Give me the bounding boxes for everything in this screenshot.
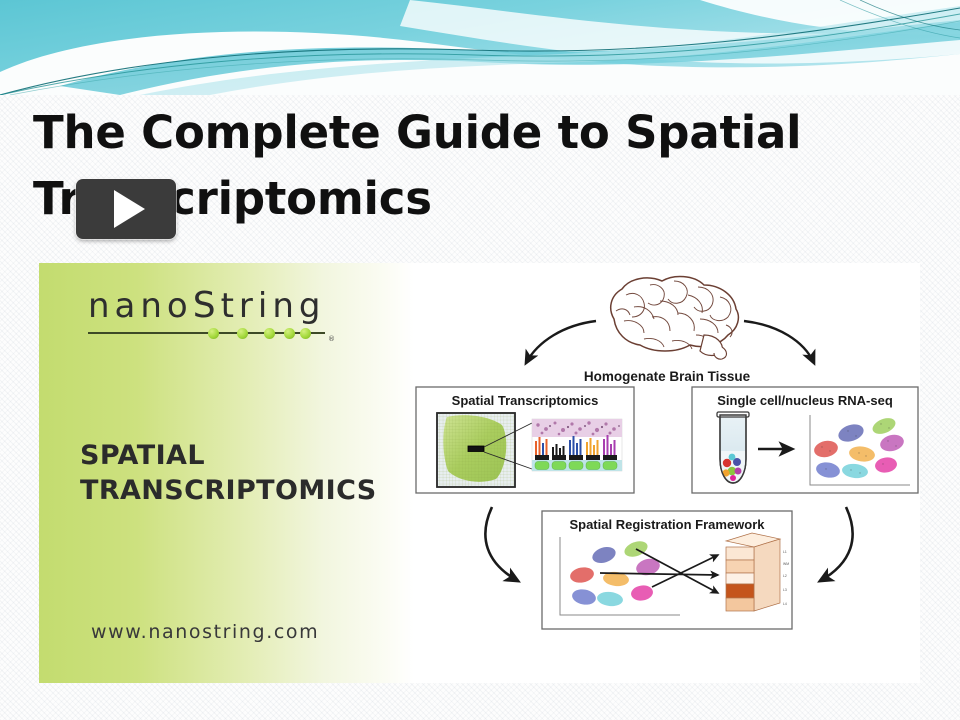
brand-headline-line-1: SPATIAL	[80, 438, 377, 473]
logo-text-tring: tring	[221, 286, 326, 326]
diagram-top-label: Homogenate Brain Tissue	[584, 369, 751, 384]
box-label-spatial-transcriptomics: Spatial Transcriptomics	[452, 393, 599, 408]
slide-content-image: nanoString ® SPATIAL TRANSCRIPTOMICS www…	[39, 263, 920, 683]
box-label-single-cell-rna-seq: Single cell/nucleus RNA-seq	[717, 393, 893, 408]
brand-headline-line-2: TRANSCRIPTOMICS	[80, 473, 377, 508]
logo-text-s: S	[193, 285, 221, 326]
box-spatial-registration-framework: Spatial Registration Framework	[542, 511, 792, 629]
nanostring-brand-panel: nanoString ® SPATIAL TRANSCRIPTOMICS www…	[39, 263, 414, 683]
box-label-spatial-registration-framework: Spatial Registration Framework	[569, 517, 765, 532]
play-button[interactable]	[76, 179, 176, 239]
spot-barcode-graphic	[532, 419, 622, 471]
logo-text-nano: nano	[88, 286, 193, 326]
tissue-slide-graphic	[437, 413, 515, 487]
nanostring-logo-underline: ®	[88, 327, 325, 341]
sample-tube-graphic	[717, 412, 749, 483]
workflow-diagram-panel: Homogenate Brain Tissue Spatial Transcri…	[414, 263, 920, 683]
svg-text:L1: L1	[783, 550, 787, 554]
registered-trademark-mark: ®	[328, 335, 335, 343]
logo-dot-3	[264, 328, 275, 339]
logo-dot-4	[284, 328, 295, 339]
svg-text:L3: L3	[783, 588, 787, 592]
logo-dot-5	[300, 328, 311, 339]
nanostring-logo: nanoString ®	[88, 288, 338, 341]
brand-headline: SPATIAL TRANSCRIPTOMICS	[80, 438, 377, 508]
box-single-cell-rna-seq: Single cell/nucleus RNA-seq	[692, 387, 918, 493]
logo-dot-1	[208, 328, 219, 339]
box-spatial-transcriptomics: Spatial Transcriptomics	[416, 387, 634, 493]
brand-website-url: www.nanostring.com	[91, 621, 319, 643]
play-icon	[114, 190, 145, 228]
svg-text:L2: L2	[783, 574, 787, 578]
svg-text:WM: WM	[783, 562, 789, 566]
decorative-wave-banner	[0, 0, 960, 95]
presentation-slide: The Complete Guide to Spatial Transcript…	[0, 0, 960, 720]
nanostring-logo-wordmark: nanoString	[88, 288, 338, 324]
logo-dot-2	[237, 328, 248, 339]
svg-text:L4: L4	[783, 602, 787, 606]
